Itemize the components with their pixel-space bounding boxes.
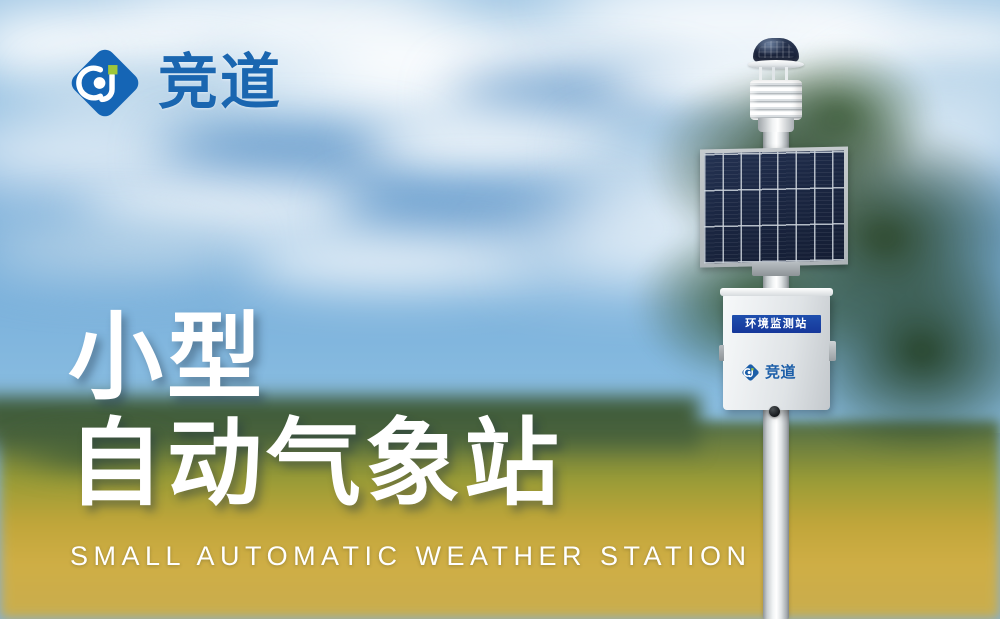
enclosure-left-vent xyxy=(719,345,724,361)
jingdao-diamond-logo-icon xyxy=(66,44,144,122)
enclosure-label-band: 环境监测站 xyxy=(732,315,821,333)
page-title: 小型 自动气象站 xyxy=(68,305,563,518)
jingdao-diamond-logo-icon-small xyxy=(741,363,760,382)
radiation-shield xyxy=(750,80,802,120)
headline-line-1: 小型 xyxy=(68,305,563,411)
ultrasonic-weather-sensor-icon xyxy=(744,38,808,130)
solar-panel-cells xyxy=(704,151,844,264)
cable-port-icon xyxy=(769,406,780,417)
solar-panel xyxy=(700,146,848,267)
enclosure-brand-wordmark: 竞道 xyxy=(765,365,796,380)
brand-wordmark: 竞道 xyxy=(158,53,282,113)
solar-panel-mount xyxy=(752,262,800,276)
headline-line-2: 自动气象站 xyxy=(68,411,563,517)
shield-base xyxy=(758,118,794,132)
enclosure-brand-logo: 竞道 xyxy=(741,363,796,382)
sensor-dome xyxy=(753,38,799,62)
enclosure-box: 环境监测站 竞道 xyxy=(723,293,830,410)
product-banner: 竞道 小型 自动气象站 SMALL AUTOMATIC WEATHER STAT… xyxy=(0,0,1000,619)
brand-logo: 竞道 xyxy=(66,44,282,122)
enclosure-right-vent xyxy=(829,341,836,361)
enclosure-label-text: 环境监测站 xyxy=(745,319,808,330)
subtitle: SMALL AUTOMATIC WEATHER STATION xyxy=(70,541,752,572)
enclosure-top xyxy=(720,288,833,296)
